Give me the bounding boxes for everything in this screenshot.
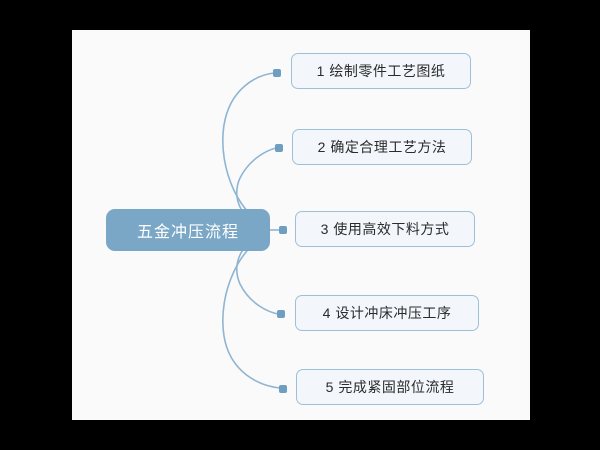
branch-node-4[interactable]: 4 设计冲床冲压工序	[295, 295, 479, 331]
connector-dot-branch-3	[279, 226, 287, 234]
connector-dot-branch-5	[279, 385, 287, 393]
root-node-label: 五金冲压流程	[137, 218, 239, 242]
connector-dot-branch-1	[273, 69, 281, 77]
branch-node-4-label: 4 设计冲床冲压工序	[323, 303, 452, 323]
branch-node-2[interactable]: 2 确定合理工艺方法	[292, 129, 472, 165]
branch-node-2-label: 2 确定合理工艺方法	[318, 137, 447, 157]
connector-dot-branch-2	[275, 144, 283, 152]
mindmap-canvas[interactable]: 五金冲压流程 1 绘制零件工艺图纸 2 确定合理工艺方法 3 使用高效下料方式 …	[72, 30, 530, 420]
connector-branch-1	[223, 73, 274, 226]
branch-node-5-label: 5 完成紧固部位流程	[326, 377, 455, 397]
root-node[interactable]: 五金冲压流程	[106, 209, 270, 251]
branch-node-3[interactable]: 3 使用高效下料方式	[295, 211, 475, 247]
connector-dot-branch-4	[277, 310, 285, 318]
branch-node-1-label: 1 绘制零件工艺图纸	[317, 61, 446, 81]
branch-node-5[interactable]: 5 完成紧固部位流程	[296, 369, 484, 405]
screenshot-root: 五金冲压流程 1 绘制零件工艺图纸 2 确定合理工艺方法 3 使用高效下料方式 …	[0, 0, 600, 450]
branch-node-3-label: 3 使用高效下料方式	[321, 219, 450, 239]
branch-node-1[interactable]: 1 绘制零件工艺图纸	[291, 53, 471, 89]
